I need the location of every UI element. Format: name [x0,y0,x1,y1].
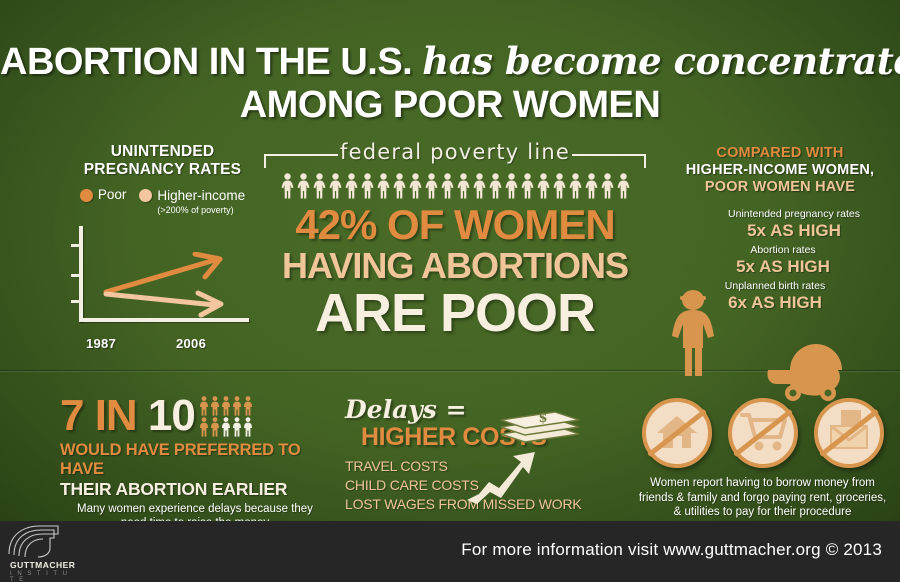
comparison-heading-line-3: POOR WOMEN HAVE [660,179,900,196]
woman-figure-icon [328,173,343,199]
borrowing-caption-line-1: Women report having to borrow money from [630,476,895,491]
no-rent-badge [642,398,712,468]
person-icon-filled [210,396,220,416]
forgo-icons-row [630,398,895,468]
woman-icon [665,288,721,378]
legend-label-higher-income: Higher-income [157,188,245,203]
stroller-icon [760,340,846,402]
seven-in-ten-subtext-line-1: Many women experience delays because the… [60,502,330,516]
woman-figure-icon [472,173,487,199]
person-icon-filled [221,396,231,416]
federal-poverty-line-label: federal poverty line [340,140,570,164]
woman-figure-icon [584,173,599,199]
stat-42-percent: 42% OF WOMEN [262,203,648,247]
comparison-stats: Unintended pregnancy rates 5x AS HIGH Ab… [660,208,900,318]
title-bold-part: ABORTION IN THE U.S. [0,41,412,83]
chart-plot-area [61,226,261,336]
borrowing-panel: Women report having to borrow money from… [630,398,895,520]
person-icon-empty [221,417,231,437]
legend-label-wrap: Higher-income (>200% of poverty) [157,187,245,216]
person-icon-filled [243,396,253,416]
woman-figure-icon [616,173,631,199]
woman-figure-icon [296,173,311,199]
woman-figure-icon [440,173,455,199]
woman-figure-icon [568,173,583,199]
chart-x-label-1987: 1987 [86,336,116,351]
borrowing-caption-line-3: & utilities to pay for their procedure [630,505,895,520]
person-icon-empty [232,417,242,437]
chart-title-line-1: UNINTENDED [55,143,270,161]
woman-figure-icon [520,173,535,199]
comparison-stat-value-1: 5x AS HIGH [688,221,900,241]
woman-figure-icon [376,173,391,199]
person-icon-filled [210,417,220,437]
chart-y-tick-1 [71,244,80,247]
comparison-stat-caption-2: Abortion rates [688,244,878,257]
women-figure-row [262,173,648,199]
borrowing-caption-line-2: friends & family and forgo paying rent, … [630,491,895,506]
woman-figure-icon [424,173,439,199]
legend-dot-icon-poor [80,189,93,202]
seven-in-ten-white: 10 [148,391,195,440]
center-statistic-panel: federal poverty line 42% OF WOMEN HAVING… [262,140,648,341]
title-line-2: AMONG POOR WOMEN [0,83,900,127]
chart-title: UNINTENDED PREGNANCY RATES [55,143,270,179]
rising-arrow-icon [465,448,537,504]
people-pictogram-grid [199,396,253,437]
stat-are-poor: ARE POOR [262,285,648,341]
chart-legend: Poor Higher-income (>200% of poverty) [55,187,270,216]
legend-sublabel-higher-income: (>200% of poverty) [157,205,245,216]
woman-figure-icon [536,173,551,199]
unintended-pregnancy-chart-panel: UNINTENDED PREGNANCY RATES Poor Higher-i… [55,143,270,354]
no-utilities-badge [814,398,884,468]
seven-in-ten-line-2: THEIR ABORTION EARLIER [60,479,330,499]
comparison-stat-caption-1: Unintended pregnancy rates [688,208,900,221]
page-title: ABORTION IN THE U.S. has become concentr… [0,40,900,127]
person-icon-empty [243,417,253,437]
legend-item-poor: Poor [80,187,127,202]
chart-x-tick-labels: 1987 2006 [61,336,261,354]
woman-figure-icon [312,173,327,199]
person-icon-filled [199,396,209,416]
legend-item-higher-income: Higher-income (>200% of poverty) [139,187,245,216]
seven-in-ten-headline-row: 7 IN 10 [60,393,330,439]
logo-mark-icon [6,524,76,560]
legend-label-poor: Poor [98,187,127,202]
chart-y-tick-3 [71,300,80,303]
woman-figure-icon [392,173,407,199]
chart-y-tick-2 [71,274,80,277]
woman-figure-icon [408,173,423,199]
stat-having-abortions: HAVING ABORTIONS [262,247,648,285]
comparison-panel: COMPARED WITH HIGHER-INCOME WOMEN, POOR … [660,145,900,318]
infographic-poster: ABORTION IN THE U.S. has become concentr… [0,0,900,582]
title-italic-part: has become concentrated [422,39,900,83]
seven-in-ten-orange: 7 IN [60,391,148,440]
bracket-right-icon [572,154,646,168]
legend-dot-icon-higher-income [139,189,152,202]
footer-bar: GUTTMACHER I N S T I T U T E For more in… [0,521,900,582]
logo-subtitle: I N S T I T U T E [10,571,76,582]
woman-figure-icon [280,173,295,199]
no-groceries-badge [728,398,798,468]
seven-in-ten-number: 7 IN 10 [60,393,195,439]
woman-figure-icon [488,173,503,199]
borrowing-caption: Women report having to borrow money from… [630,476,895,520]
footer-info-text: For more information visit www.guttmache… [461,540,882,560]
seven-in-ten-panel: 7 IN 10 WOULD HAVE PREFERRED TO HAVE THE… [60,393,330,530]
woman-figure-icon [360,173,375,199]
comparison-stat-unintended-pregnancy: Unintended pregnancy rates 5x AS HIGH [688,208,900,241]
bracket-left-icon [264,154,338,168]
money-stack-icon: $ [495,400,583,446]
dollar-sign-glyph: $ [538,411,547,426]
guttmacher-logo: GUTTMACHER I N S T I T U T E [6,524,76,582]
title-line-1: ABORTION IN THE U.S. has become concentr… [0,40,900,83]
person-icon-filled [199,417,209,437]
logo-wordmark: GUTTMACHER [10,560,75,570]
chart-x-axis [79,318,249,322]
person-icon-filled [232,396,242,416]
comparison-heading: COMPARED WITH HIGHER-INCOME WOMEN, POOR … [660,145,900,196]
woman-figure-icon [504,173,519,199]
woman-figure-icon [600,173,615,199]
federal-poverty-line-bracket: federal poverty line [262,140,648,168]
woman-figure-icon [552,173,567,199]
comparison-heading-line-1: COMPARED WITH [660,145,900,162]
woman-figure-icon [344,173,359,199]
comparison-heading-line-2: HIGHER-INCOME WOMEN, [660,162,900,179]
chart-title-line-2: PREGNANCY RATES [55,161,270,179]
comparison-stat-abortion: Abortion rates 5x AS HIGH [688,244,878,277]
delays-panel: Delays = HIGHER COSTS TRAVEL COSTS CHILD… [345,396,605,514]
seven-in-ten-line-1: WOULD HAVE PREFERRED TO HAVE [60,441,330,479]
comparison-stat-value-2: 5x AS HIGH [688,257,878,277]
trend-arrow-higher-income-icon [103,288,229,318]
woman-figure-icon [456,173,471,199]
chart-x-label-2006: 2006 [176,336,206,351]
